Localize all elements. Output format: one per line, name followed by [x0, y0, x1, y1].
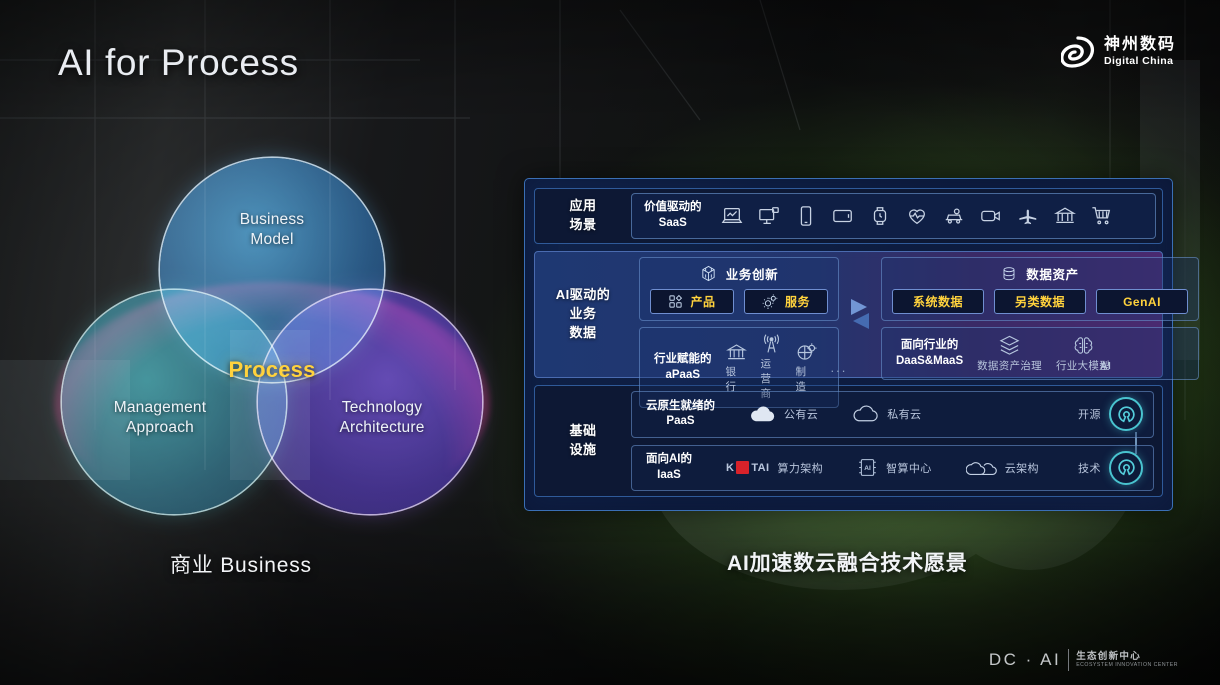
data-assets-title: 数据资产 — [1026, 264, 1078, 283]
iaas-badge-label: 技术 — [1078, 460, 1101, 476]
paas-item-private-cloud: 私有云 — [852, 404, 921, 424]
footer-text-en: ECOSYSTEM INNOVATION CENTER — [1076, 663, 1178, 668]
iaas-item-compute-architecture: KTAI 算力架构 — [726, 460, 823, 476]
chip-system-data[interactable]: 系统数据 — [892, 289, 984, 314]
signal-tower-icon — [761, 334, 782, 355]
paas-item-label: 私有云 — [887, 406, 921, 422]
data-assets-column: 数据资产 系统数据 另类数据 GenAI 面向行业的 DaaS&MaaS — [873, 252, 1207, 377]
row-label-line1: 应用 — [569, 197, 596, 216]
car-icon — [943, 205, 965, 227]
bank-icon — [1054, 205, 1076, 227]
tag-line1: 价值驱动的 — [644, 200, 702, 216]
row-label-application-scenarios: 应用 场景 — [535, 189, 631, 243]
shopping-cart-icon — [1091, 205, 1113, 227]
manufacturing-icon — [796, 342, 817, 363]
desktop-monitor-icon — [758, 205, 780, 227]
laptop-chart-icon — [721, 205, 743, 227]
row-label-ai-driven-business-data: AI驱动的 业务 数据 — [535, 252, 631, 377]
venn-label-management-approach: Management Approach — [80, 398, 240, 438]
logo-text-cn: 神州数码 — [1104, 37, 1176, 53]
architecture-panel: 应用 场景 价值驱动的 SaaS — [524, 178, 1173, 511]
ai-accent-text: AI — [1100, 360, 1111, 372]
row-label-infrastructure: 基础 设施 — [535, 386, 631, 496]
panel-row-ai-driven-business-data: AI驱动的 业务 数据 业务创新 — [534, 251, 1163, 378]
footer-dc-ai: DC · AI — [989, 650, 1061, 670]
tag-ai-oriented-iaas: 面向AI的 IaaS — [646, 452, 692, 483]
business-innovation-chips: 产品 服务 — [650, 289, 828, 314]
double-arrow-icon — [849, 295, 871, 335]
iaas-item-cloud-architecture: 云架构 — [966, 458, 1039, 478]
video-camera-icon — [980, 205, 1002, 227]
row-label-line2: 场景 — [569, 216, 596, 235]
multi-cloud-icon — [966, 458, 997, 478]
daas-item-industry-llm: 行业大模型 AI — [1056, 334, 1111, 373]
data-assets-chips: 系统数据 另类数据 GenAI — [892, 289, 1188, 314]
chip-label: 产品 — [690, 293, 715, 310]
chip-label: 服务 — [785, 293, 810, 310]
footer-divider — [1068, 649, 1069, 671]
iaas-item-label: 算力架构 — [777, 460, 823, 476]
row-label-line2: 设施 — [569, 441, 596, 460]
infrastructure-subrow-paas: 云原生就绪的 PaaS 公有云 私有云 开源 — [631, 391, 1154, 438]
infrastructure-subrow-iaas: 面向AI的 IaaS KTAI 算力架构 AI 智算中心 — [631, 445, 1154, 492]
airplane-icon — [1017, 205, 1039, 227]
daas-item-label: 数据资产治理 — [977, 358, 1042, 373]
row2-connector — [847, 252, 873, 377]
daas-item-label-wrap: 行业大模型 AI — [1056, 358, 1111, 373]
chip-alternative-data[interactable]: 另类数据 — [994, 289, 1086, 314]
kutai-block-mark — [736, 461, 749, 474]
chip-label: 另类数据 — [1015, 293, 1065, 310]
swirl-logo-icon — [1061, 36, 1095, 68]
database-icon — [1001, 266, 1017, 282]
venn-label-technology-architecture: Technology Architecture — [302, 398, 462, 438]
bank-icon — [726, 342, 747, 363]
iaas-item-ai-datacenter: AI 智算中心 — [857, 457, 932, 478]
tag-line2: DaaS&MaaS — [896, 354, 963, 370]
venn-label-business-model: Business Model — [222, 210, 322, 250]
heart-pulse-icon — [906, 205, 928, 227]
tag-value-driven-saas: 价值驱动的 SaaS — [644, 200, 702, 231]
scenario-icon-strip — [721, 205, 1113, 227]
tag-cloud-native-paas: 云原生就绪的 PaaS — [646, 399, 715, 430]
tag-industry-apaas: 行业赋能的 aPaaS — [654, 352, 712, 383]
ai-datacenter-icon: AI — [857, 457, 878, 478]
paas-badge-label: 开源 — [1078, 406, 1101, 422]
tag-line2: SaaS — [644, 216, 702, 232]
chip-product[interactable]: 产品 — [650, 289, 734, 314]
row-label-line3: 数据 — [556, 324, 611, 343]
venn-label-line2: Approach — [80, 418, 240, 438]
tablet-icon — [832, 205, 854, 227]
cube-grid-icon — [700, 265, 717, 282]
venn-label-line1: Management — [80, 398, 240, 418]
chip-label: 系统数据 — [913, 293, 963, 310]
cloud-filled-icon — [749, 404, 776, 424]
data-layers-icon — [998, 334, 1021, 357]
open-source-icon — [1117, 405, 1136, 424]
open-source-badge-iaas[interactable] — [1109, 451, 1143, 485]
page-title: AI for Process — [58, 42, 299, 84]
tag-industry-daas-maas: 面向行业的 DaaS&MaaS — [896, 338, 963, 369]
tag-line2: aPaaS — [654, 368, 712, 384]
paas-item-public-cloud: 公有云 — [749, 404, 818, 424]
daas-item-data-governance: 数据资产治理 — [977, 334, 1042, 373]
open-source-icon — [1117, 458, 1136, 477]
kutai-brand-logo: KTAI — [726, 461, 769, 474]
brain-circuit-icon — [1072, 334, 1095, 357]
tag-line1: 面向AI的 — [646, 452, 692, 468]
tag-line2: PaaS — [646, 414, 715, 430]
logo-text-en: Digital China — [1104, 56, 1176, 67]
cloud-outline-icon — [852, 404, 879, 424]
slide-root: AI for Process 神州数码 Digital China Busine… — [0, 0, 1220, 685]
tag-line1: 行业赋能的 — [654, 352, 712, 368]
venn-label-line1: Technology — [302, 398, 462, 418]
smartphone-icon — [795, 205, 817, 227]
panel-row-infrastructure: 基础 设施 云原生就绪的 PaaS 公有云 — [534, 385, 1163, 497]
business-innovation-column: 业务创新 产品 服务 — [631, 252, 847, 377]
application-scenarios-box: 价值驱动的 SaaS — [631, 193, 1156, 239]
iaas-item-label: 智算中心 — [886, 460, 932, 476]
tag-line1: 云原生就绪的 — [646, 399, 715, 415]
venn-caption: 商业 Business — [170, 549, 312, 579]
panel-row-application-scenarios: 应用 场景 价值驱动的 SaaS — [534, 188, 1163, 244]
venn-label-line2: Architecture — [302, 418, 462, 438]
chip-service[interactable]: 服务 — [744, 289, 828, 314]
tag-line2: IaaS — [646, 468, 692, 484]
venn-label-line2: Model — [222, 230, 322, 250]
data-assets-header: 数据资产 — [1001, 264, 1078, 283]
apaas-ellipsis: ... — [831, 360, 848, 375]
venn-label-line1: Business — [222, 210, 322, 230]
kutai-pre: K — [726, 462, 734, 474]
tag-line1: 面向行业的 — [896, 338, 963, 354]
footer-brand: DC · AI 生态创新中心 ECOSYSTEM INNOVATION CENT… — [989, 649, 1178, 671]
smartwatch-icon — [869, 205, 891, 227]
venn-diagram: Business Model Management Approach Techn… — [62, 158, 462, 530]
data-assets-section: 数据资产 系统数据 另类数据 GenAI — [881, 257, 1199, 321]
row-label-line2: 业务 — [556, 305, 611, 324]
row-label-line1: AI驱动的 — [556, 286, 611, 305]
daas-maas-section: 面向行业的 DaaS&MaaS 数据资产治理 行业大模型 AI — [881, 327, 1199, 380]
kutai-post: TAI — [751, 462, 769, 474]
svg-text:AI: AI — [864, 465, 871, 472]
business-innovation-header: 业务创新 — [700, 264, 778, 283]
brand-logo: 神州数码 Digital China — [1061, 36, 1176, 68]
paas-item-label: 公有云 — [784, 406, 818, 422]
gears-icon — [762, 294, 778, 310]
panel-caption: AI加速数云融合技术愿景 — [727, 547, 968, 577]
open-source-badge-paas[interactable] — [1109, 397, 1143, 431]
chip-genai[interactable]: GenAI — [1096, 289, 1188, 314]
footer-text-cn: 生态创新中心 — [1076, 652, 1178, 662]
blocks-icon — [668, 294, 683, 309]
business-innovation-section: 业务创新 产品 服务 — [639, 257, 839, 321]
business-innovation-title: 业务创新 — [726, 264, 778, 283]
chip-label: GenAI — [1123, 295, 1161, 309]
row-label-line1: 基础 — [569, 422, 596, 441]
iaas-item-label: 云架构 — [1005, 460, 1039, 476]
venn-label-process: Process — [194, 356, 350, 384]
